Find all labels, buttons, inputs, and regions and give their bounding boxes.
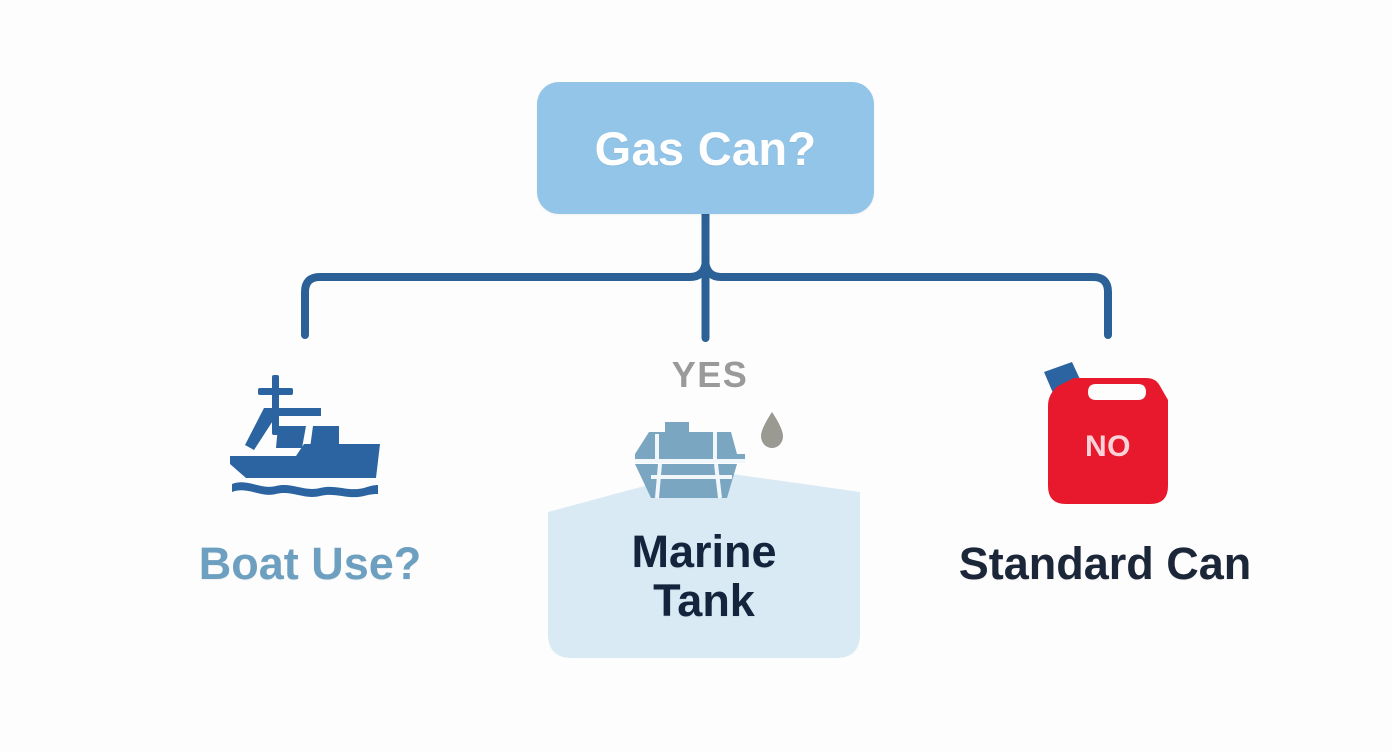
- root-decision-box[interactable]: Gas Can?: [537, 82, 874, 214]
- boat-icon: [218, 360, 418, 510]
- standard-can-label: Standard Can: [905, 540, 1305, 589]
- gas-can-no-badge: NO: [1034, 430, 1182, 464]
- diagram-canvas: Gas Can? YES Boat Use?: [0, 0, 1392, 752]
- water-droplet-icon: [758, 410, 786, 455]
- marine-tank-label: Marine Tank: [548, 528, 860, 625]
- marine-tank-label-line1: Marine: [548, 528, 860, 577]
- root-decision-label: Gas Can?: [595, 125, 817, 172]
- edge-label-yes: YES: [600, 357, 820, 393]
- boat-use-label: Boat Use?: [110, 540, 510, 589]
- marine-tank-label-line2: Tank: [548, 577, 860, 626]
- marine-tank-icon: [627, 414, 757, 511]
